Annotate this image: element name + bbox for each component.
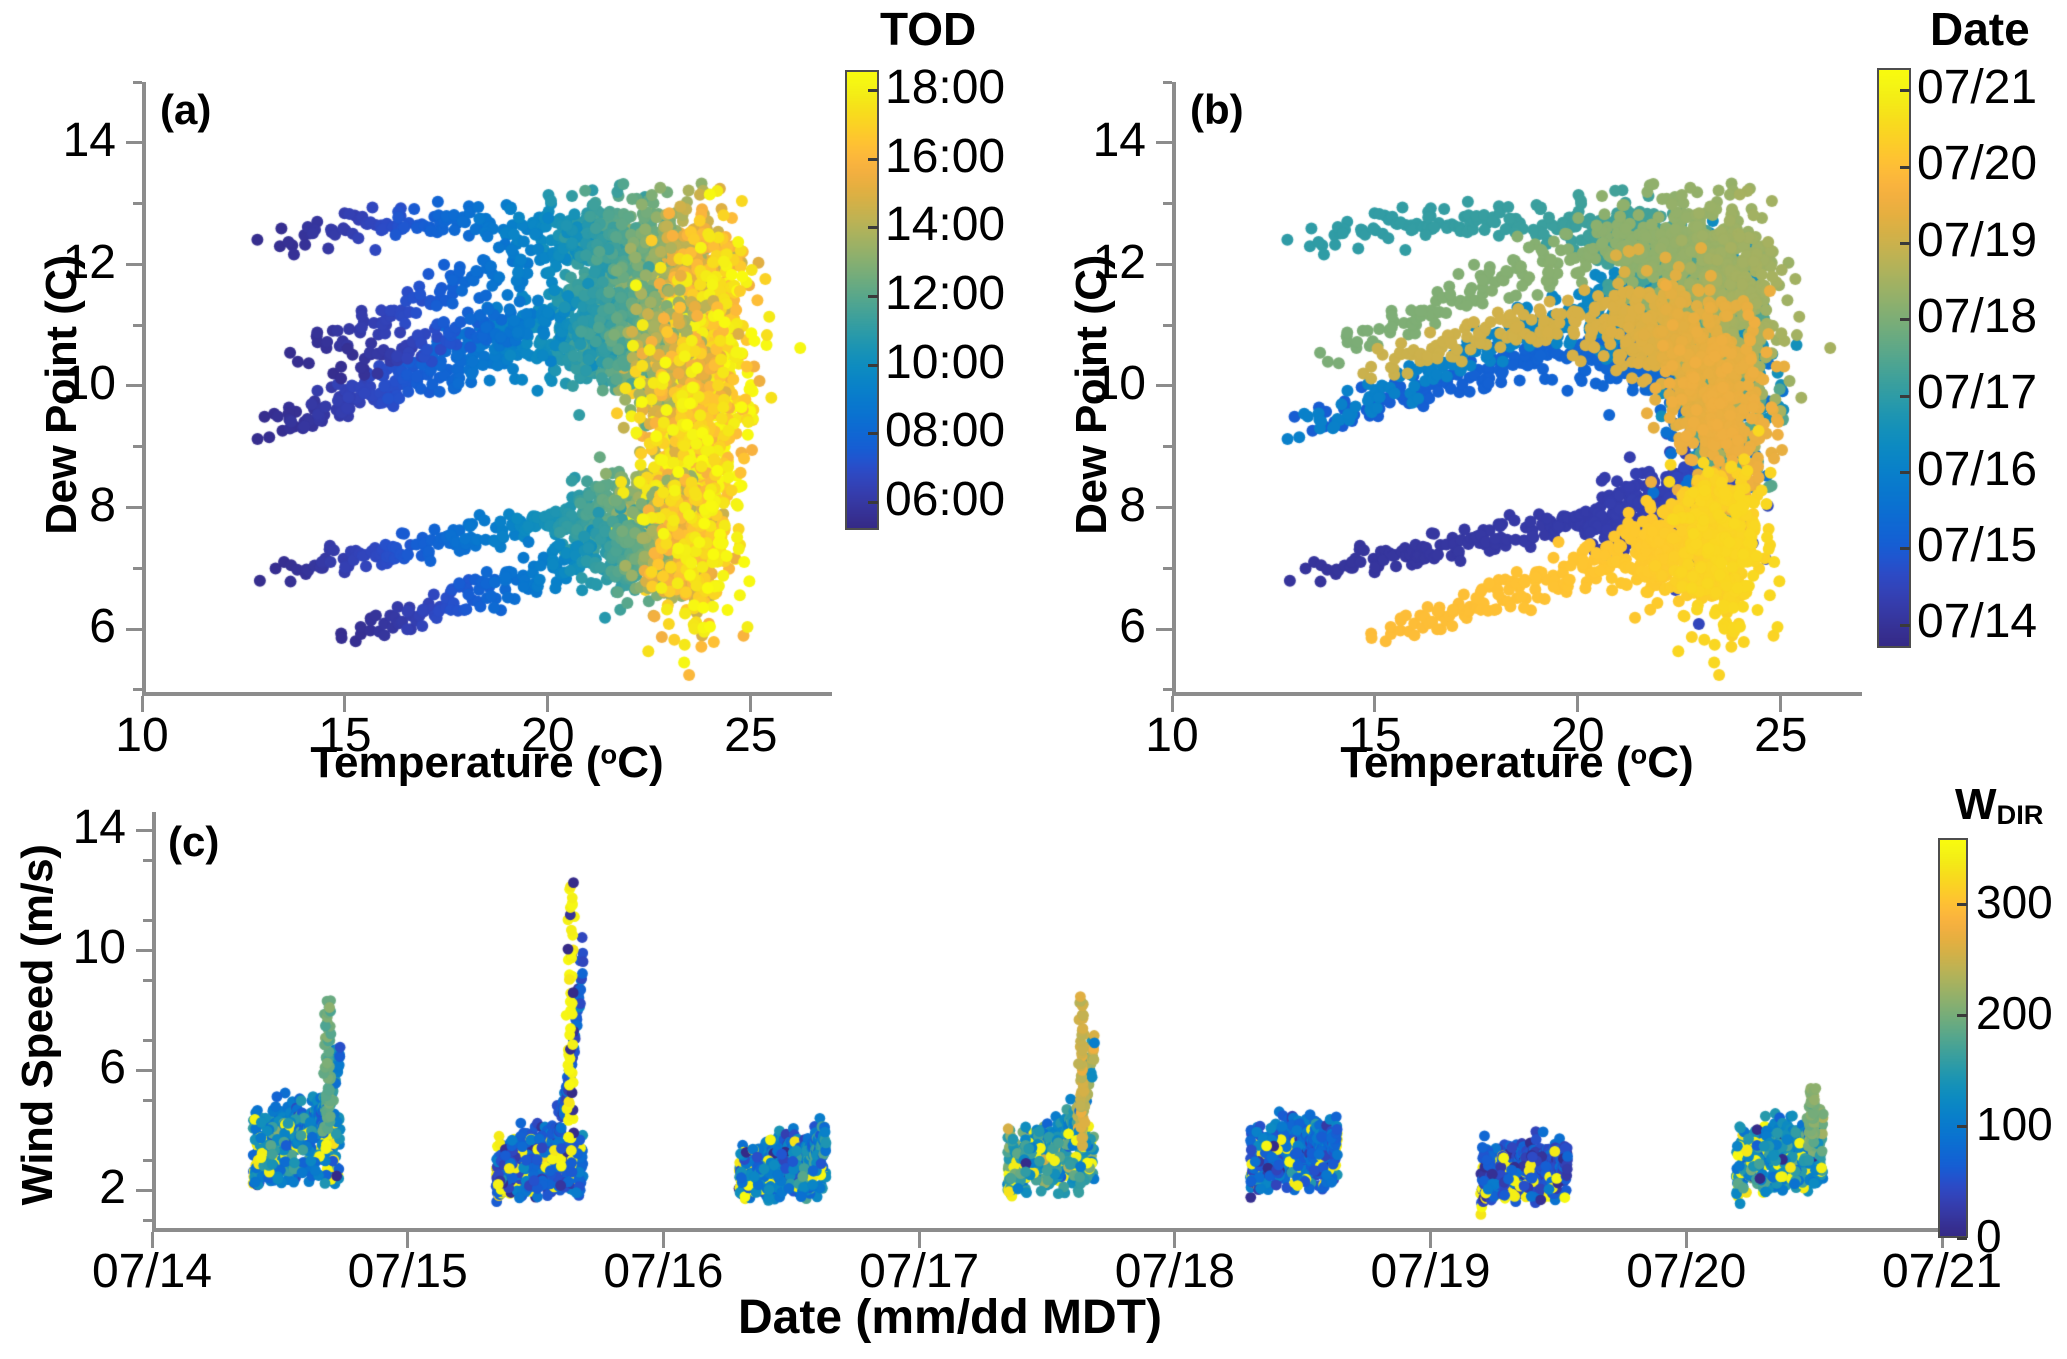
panel-a-xlabel-post: C) xyxy=(617,738,663,787)
colorbar-label: 07/15 xyxy=(1917,518,2037,573)
colorbar-a-title: TOD xyxy=(880,2,976,56)
ytick-mark xyxy=(126,506,142,509)
colorbar-tick xyxy=(1957,1014,1967,1017)
ytick-mark xyxy=(126,384,142,387)
colorbar-tick xyxy=(1900,242,1910,245)
ytick-mark xyxy=(136,949,152,952)
colorbar-tick xyxy=(868,364,878,367)
xtick-label: 15 xyxy=(285,708,405,763)
ytick-minor xyxy=(1163,81,1172,84)
ytick-minor xyxy=(1163,567,1172,570)
colorbar-c-title-subscript: DIR xyxy=(1997,799,2044,830)
ytick-minor xyxy=(133,445,142,448)
ytick-minor xyxy=(1163,445,1172,448)
colorbar-tick xyxy=(868,226,878,229)
colorbar-label: 07/19 xyxy=(1917,213,2037,268)
ytick-minor xyxy=(133,202,142,205)
ytick-minor xyxy=(143,919,152,922)
ytick-minor xyxy=(133,324,142,327)
ytick-label: 6 xyxy=(56,1040,126,1095)
colorbar-label: 06:00 xyxy=(885,472,1005,527)
ytick-label: 8 xyxy=(1076,478,1146,533)
colorbar-tick xyxy=(1900,89,1910,92)
xtick-label: 07/18 xyxy=(1065,1244,1285,1299)
colorbar-c-title-main: W xyxy=(1955,780,1997,829)
colorbar-label: 0 xyxy=(1976,1209,2002,1263)
ytick-mark xyxy=(1156,141,1172,144)
colorbar-tick xyxy=(868,501,878,504)
colorbar-label: 200 xyxy=(1976,986,2053,1040)
colorbar-tick xyxy=(1957,1125,1967,1128)
ytick-label: 14 xyxy=(1076,113,1146,168)
ytick-mark xyxy=(126,628,142,631)
colorbar-label: 07/20 xyxy=(1917,136,2037,191)
colorbar-tick xyxy=(1900,166,1910,169)
ytick-label: 6 xyxy=(1076,599,1146,654)
colorbar-label: 100 xyxy=(1976,1097,2053,1151)
ytick-label: 12 xyxy=(1076,235,1146,290)
colorbar-b-title: Date xyxy=(1930,2,2030,56)
ytick-mark xyxy=(1156,384,1172,387)
colorbar-label: 14:00 xyxy=(885,197,1005,252)
panel-b-plot-area xyxy=(1172,82,1862,696)
xtick-label: 20 xyxy=(488,708,608,763)
ytick-minor xyxy=(143,1159,152,1162)
colorbar-tick xyxy=(868,158,878,161)
colorbar-tick xyxy=(868,432,878,435)
colorbar-b-gradient[interactable] xyxy=(1877,68,1911,648)
ytick-minor xyxy=(143,859,152,862)
colorbar-label: 12:00 xyxy=(885,266,1005,321)
colorbar-label: 18:00 xyxy=(885,60,1005,115)
colorbar-tick xyxy=(1900,624,1910,627)
colorbar-label: 16:00 xyxy=(885,129,1005,184)
colorbar-tick xyxy=(1957,1237,1967,1240)
ytick-label: 14 xyxy=(56,800,126,855)
colorbar-tick xyxy=(868,295,878,298)
colorbar-tick xyxy=(868,89,878,92)
xtick-label: 20 xyxy=(1518,708,1638,763)
ytick-mark xyxy=(1156,506,1172,509)
ytick-minor xyxy=(143,1219,152,1222)
ytick-label: 2 xyxy=(56,1160,126,1215)
ytick-minor xyxy=(1163,202,1172,205)
colorbar-tick xyxy=(1900,547,1910,550)
colorbar-tick xyxy=(1900,318,1910,321)
ytick-label: 12 xyxy=(46,235,116,290)
colorbar-label: 10:00 xyxy=(885,335,1005,390)
xtick-label: 07/20 xyxy=(1576,1244,1796,1299)
ytick-minor xyxy=(133,567,142,570)
ytick-mark xyxy=(1156,263,1172,266)
xtick-label: 07/15 xyxy=(298,1244,518,1299)
ytick-minor xyxy=(1163,324,1172,327)
ytick-mark xyxy=(136,1069,152,1072)
ytick-mark xyxy=(136,1189,152,1192)
xtick-label: 07/14 xyxy=(42,1244,262,1299)
colorbar-tick xyxy=(1957,903,1967,906)
ytick-label: 10 xyxy=(46,356,116,411)
panel-b-tag: (b) xyxy=(1190,86,1244,134)
xtick-label: 07/16 xyxy=(553,1244,773,1299)
ytick-mark xyxy=(136,829,152,832)
xtick-label: 10 xyxy=(1112,708,1232,763)
colorbar-c-title: WDIR xyxy=(1955,780,2044,831)
panel-a-scatter xyxy=(146,82,832,696)
panel-c-scatter xyxy=(156,812,1942,1232)
ytick-label: 8 xyxy=(46,478,116,533)
colorbar-label: 08:00 xyxy=(885,403,1005,458)
panel-b-xlabel-post: C) xyxy=(1647,738,1693,787)
ytick-label: 14 xyxy=(46,113,116,168)
ytick-minor xyxy=(143,1099,152,1102)
colorbar-label: 07/17 xyxy=(1917,365,2037,420)
panel-a-tag: (a) xyxy=(160,86,211,134)
colorbar-a-gradient[interactable] xyxy=(845,70,879,530)
xtick-label: 07/17 xyxy=(809,1244,1029,1299)
colorbar-label: 300 xyxy=(1976,875,2053,929)
panel-a-plot-area xyxy=(142,82,832,696)
panel-c-plot-area xyxy=(152,812,1942,1232)
ytick-minor xyxy=(133,688,142,691)
ytick-label: 10 xyxy=(56,920,126,975)
ytick-minor xyxy=(1163,688,1172,691)
ytick-minor xyxy=(133,81,142,84)
panel-c-tag: (c) xyxy=(168,818,219,866)
xtick-label: 07/19 xyxy=(1321,1244,1541,1299)
colorbar-label: 07/16 xyxy=(1917,442,2037,497)
xtick-label: 10 xyxy=(82,708,202,763)
ytick-minor xyxy=(143,1039,152,1042)
xtick-label: 25 xyxy=(1721,708,1841,763)
xtick-label: 15 xyxy=(1315,708,1435,763)
figure-root: (a) Dew Point (C) Temperature (oC) 68101… xyxy=(0,0,2067,1359)
colorbar-c-gradient[interactable] xyxy=(1938,838,1968,1238)
ytick-minor xyxy=(143,979,152,982)
xtick-label: 07/21 xyxy=(1832,1244,2052,1299)
colorbar-label: 07/18 xyxy=(1917,289,2037,344)
ytick-label: 6 xyxy=(46,599,116,654)
colorbar-tick xyxy=(1900,395,1910,398)
colorbar-label: 07/14 xyxy=(1917,594,2037,649)
ytick-mark xyxy=(1156,628,1172,631)
ytick-mark xyxy=(126,141,142,144)
colorbar-label: 07/21 xyxy=(1917,60,2037,115)
xtick-label: 25 xyxy=(691,708,811,763)
colorbar-tick xyxy=(1900,471,1910,474)
ytick-label: 10 xyxy=(1076,356,1146,411)
panel-b-scatter xyxy=(1176,82,1862,696)
ytick-mark xyxy=(126,263,142,266)
